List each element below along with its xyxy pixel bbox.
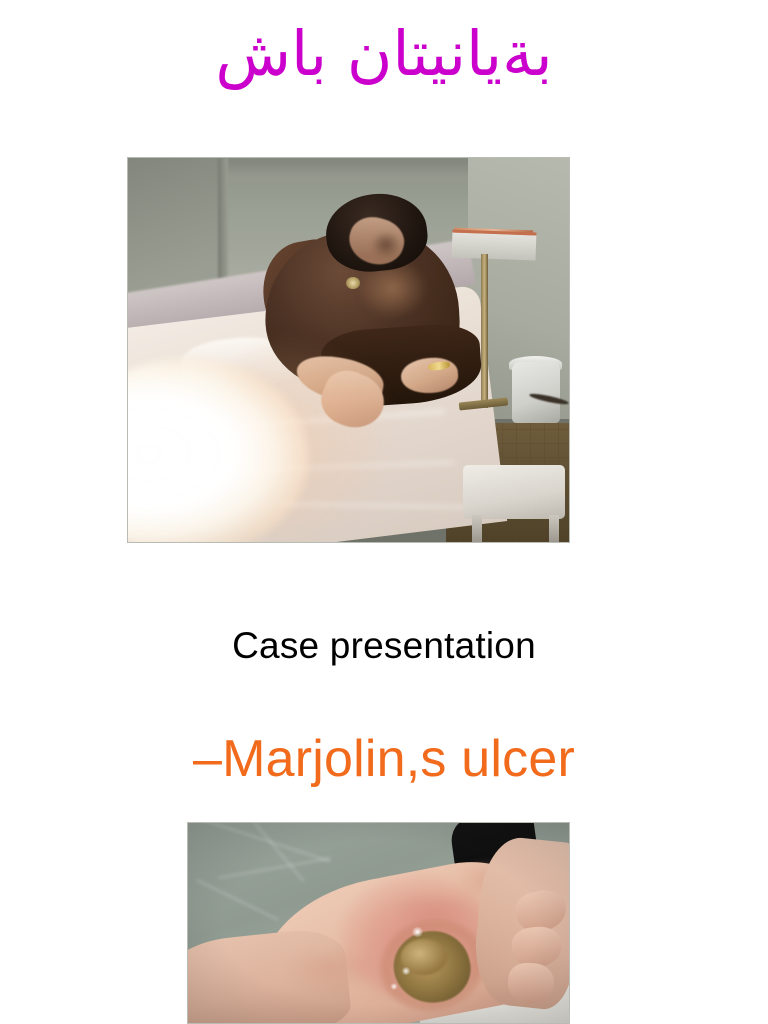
iv-pole — [481, 254, 488, 408]
case-presentation-caption: Case presentation — [0, 626, 768, 667]
plastic-stool — [463, 465, 564, 519]
waste-bin — [512, 362, 561, 423]
plastic-stool-leg — [472, 515, 482, 542]
ankle-ulcer-photo — [187, 822, 570, 1024]
marjolins-ulcer-caption: –Marjolin,s ulcer — [0, 731, 768, 788]
patient-brooch — [346, 277, 360, 289]
presentation-slide: بةيانيتان باش — [0, 0, 768, 1024]
patient-face-shadow — [371, 231, 402, 258]
ulcer-exudate-spot — [390, 983, 398, 990]
slide-title: بةيانيتان باش — [0, 18, 768, 89]
patient-on-bed-photo — [127, 157, 570, 543]
plastic-stool-leg — [549, 515, 559, 542]
ankle-ulcer-scene — [188, 823, 569, 1023]
patient-on-bed-scene — [128, 158, 569, 542]
medical-tray — [452, 229, 537, 260]
